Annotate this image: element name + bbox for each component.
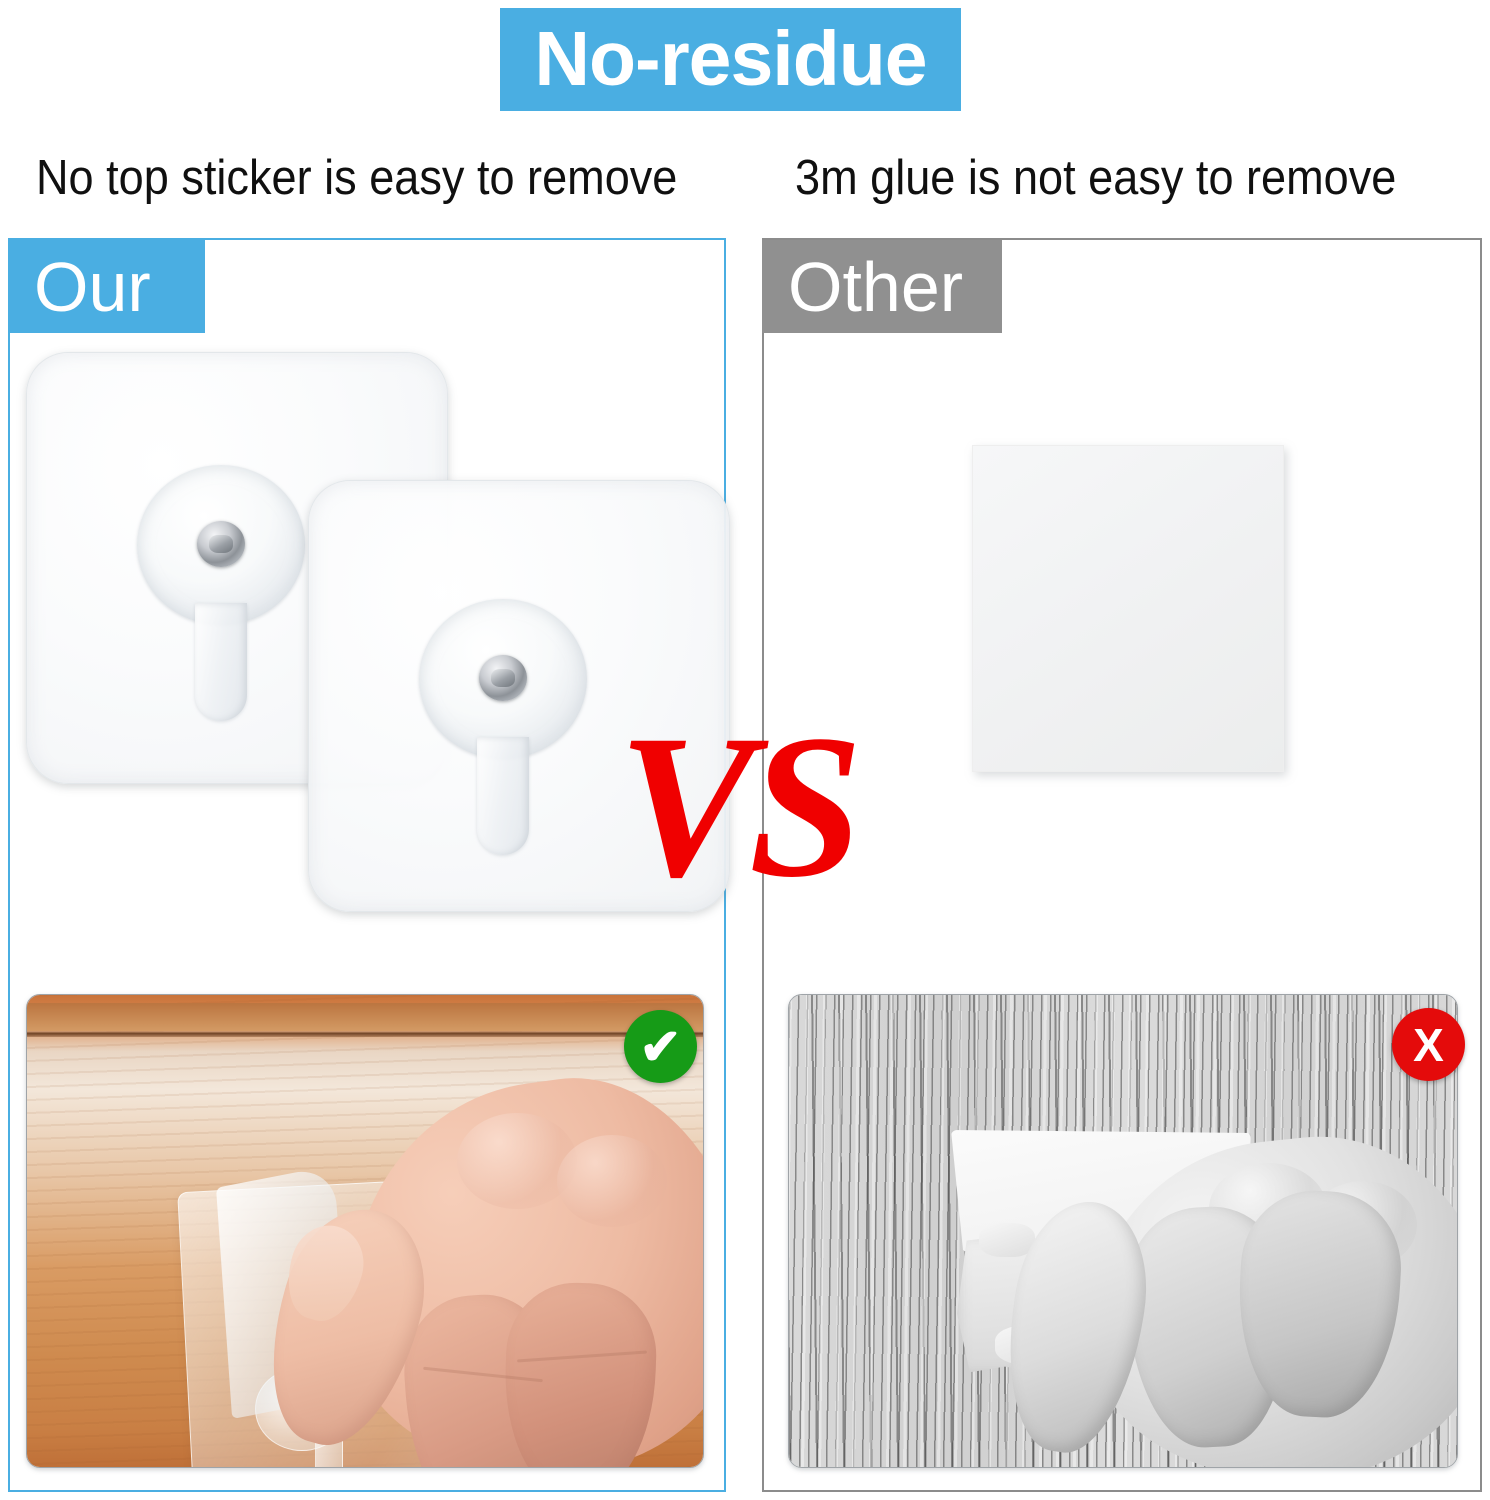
finger (501, 1280, 658, 1468)
vs-label: VS (618, 704, 857, 909)
other-product-image (762, 340, 1482, 990)
left-subtitle: No top sticker is easy to remove (36, 150, 677, 206)
check-icon: ✔ (640, 1022, 682, 1072)
page-title: No-residue (534, 21, 926, 98)
wood-edge-strip (27, 1003, 703, 1031)
screw-head-icon (491, 669, 514, 687)
knuckle-highlight (557, 1135, 667, 1227)
brand-tag-other: Other (762, 240, 1002, 333)
x-badge-icon: X (1392, 1008, 1465, 1081)
wood-seam-line (27, 1031, 703, 1037)
hook-stem-icon (477, 737, 529, 855)
title-banner: No-residue (500, 8, 961, 111)
brand-tag-other-label: Other (788, 252, 963, 322)
our-demo-photo (26, 994, 704, 1468)
other-demo-photo (788, 994, 1458, 1468)
glue-square-pad (972, 445, 1284, 772)
check-badge-icon: ✔ (624, 1010, 697, 1083)
hook-stem-icon (195, 603, 247, 721)
screw-head-icon (209, 535, 232, 553)
metal-screw-icon (479, 655, 527, 701)
right-subtitle: 3m glue is not easy to remove (795, 150, 1396, 206)
brand-tag-our: Our (8, 240, 205, 333)
close-icon: X (1413, 1022, 1444, 1068)
brand-tag-our-label: Our (34, 252, 151, 322)
product-comparison-infographic: No-residue No top sticker is easy to rem… (0, 0, 1490, 1500)
metal-screw-icon (197, 521, 245, 567)
